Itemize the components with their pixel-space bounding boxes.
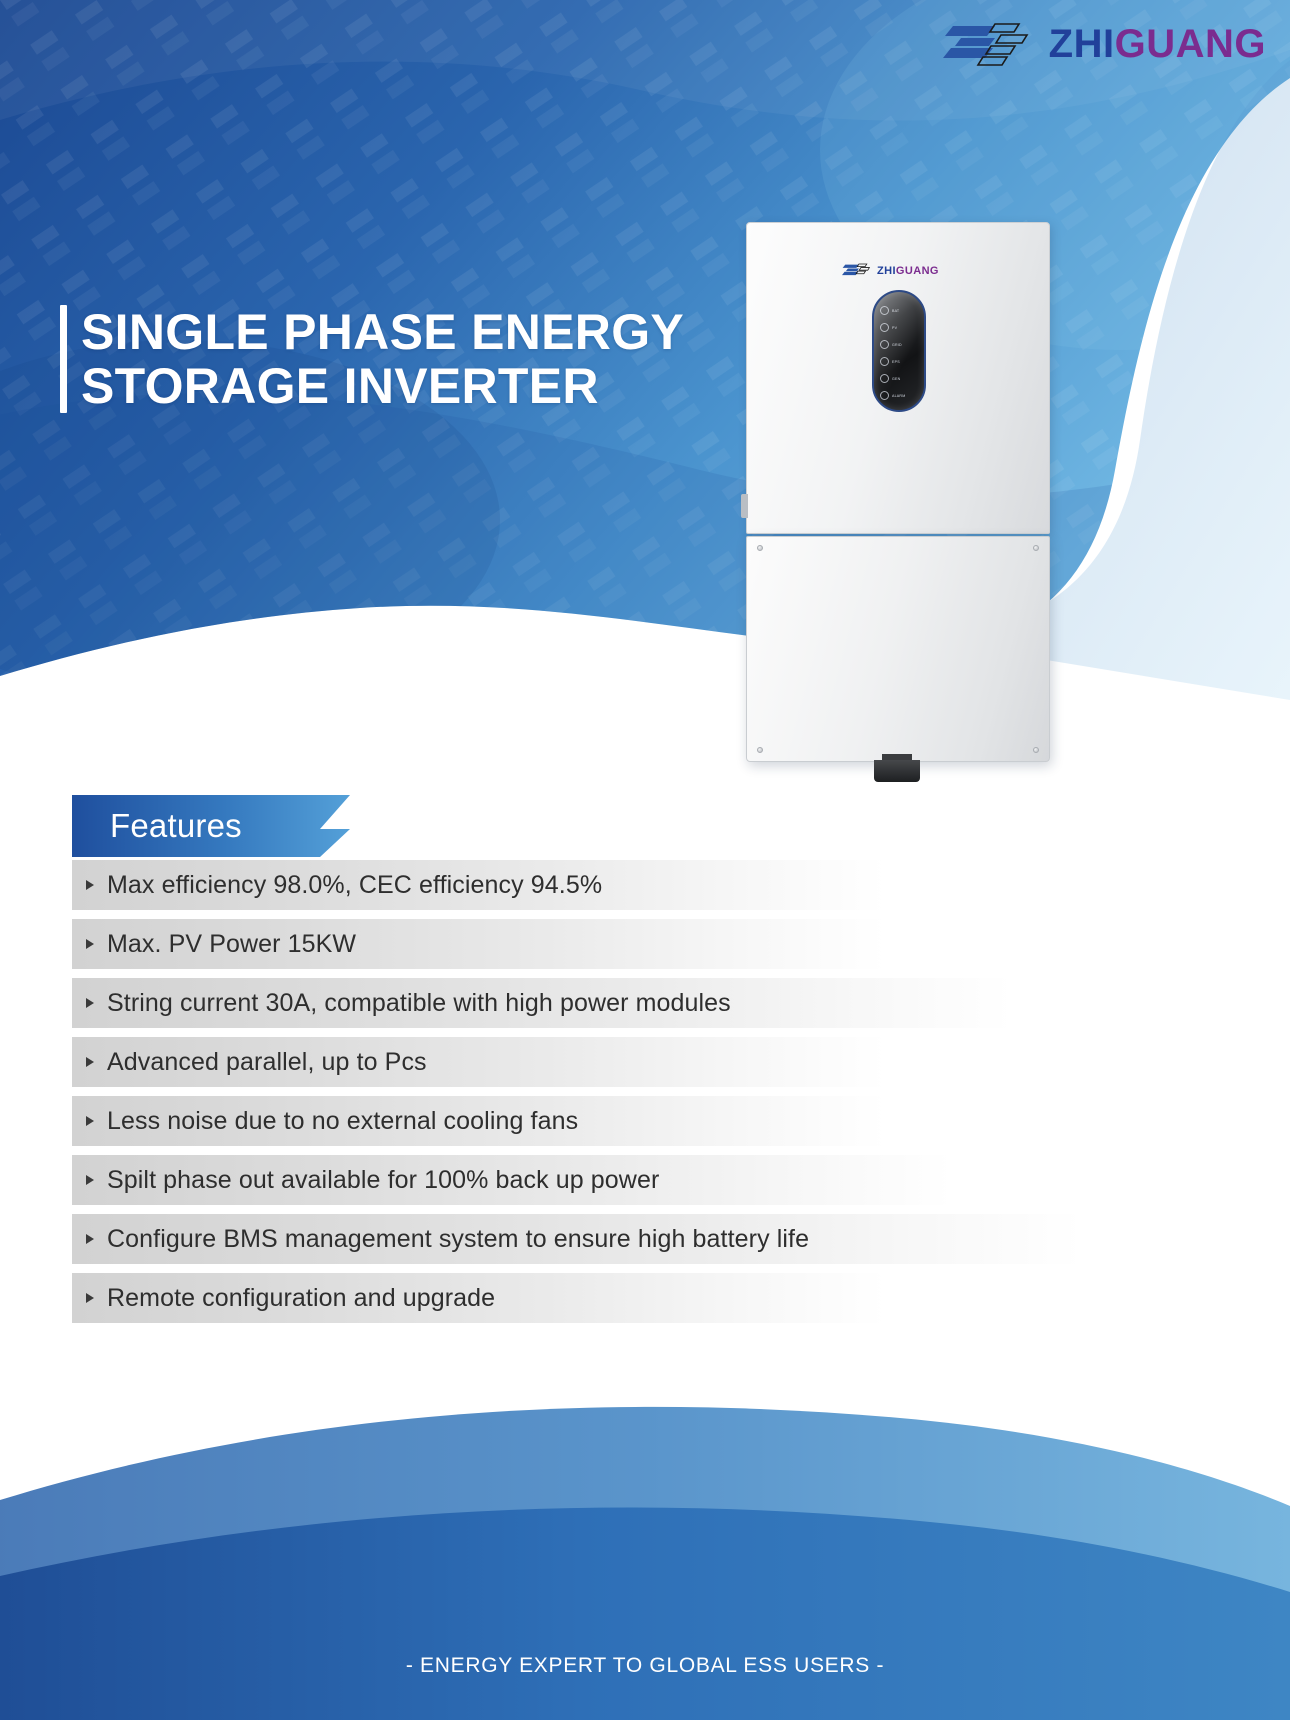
feature-item-8: Remote configuration and upgrade bbox=[72, 1273, 886, 1323]
product-image: ZHIGUANG BAT PV GRID EPS GEN ALARM bbox=[746, 222, 1050, 778]
features-heading-banner: Features bbox=[72, 795, 352, 857]
zhiguang-stripes-logo-icon bbox=[943, 18, 1035, 70]
feature-item-1: Max efficiency 98.0%, CEC efficiency 94.… bbox=[72, 860, 886, 910]
bullet-triangle-icon bbox=[86, 939, 94, 949]
title-text-group: SINGLE PHASE ENERGY STORAGE INVERTER bbox=[81, 305, 684, 413]
product-lower-enclosure bbox=[746, 536, 1050, 762]
status-indicator-grid: GRID bbox=[874, 336, 924, 353]
status-label-grid: GRID bbox=[892, 343, 902, 347]
feature-text: Max. PV Power 15KW bbox=[107, 930, 356, 959]
feature-item-2: Max. PV Power 15KW bbox=[72, 919, 886, 969]
generator-icon bbox=[880, 374, 889, 383]
battery-icon bbox=[880, 306, 889, 315]
feature-text: Max efficiency 98.0%, CEC efficiency 94.… bbox=[107, 871, 602, 900]
status-label-eps: EPS bbox=[892, 360, 900, 364]
feature-text: Remote configuration and upgrade bbox=[107, 1284, 495, 1313]
page-title: SINGLE PHASE ENERGY STORAGE INVERTER bbox=[60, 305, 684, 413]
product-status-display: BAT PV GRID EPS GEN ALARM bbox=[872, 290, 926, 412]
product-zhiguang-stripes-icon bbox=[842, 262, 872, 279]
status-indicator-alarm: ALARM bbox=[874, 387, 924, 404]
brand-logo-text: ZHIGUANG bbox=[1049, 24, 1266, 64]
feature-item-4: Advanced parallel, up to Pcs bbox=[72, 1037, 886, 1087]
feature-item-3: String current 30A, compatible with high… bbox=[72, 978, 1012, 1028]
feature-item-5: Less noise due to no external cooling fa… bbox=[72, 1096, 886, 1146]
feature-text: Configure BMS management system to ensur… bbox=[107, 1225, 809, 1254]
feature-text: Spilt phase out available for 100% back … bbox=[107, 1166, 659, 1195]
grid-icon bbox=[880, 340, 889, 349]
bullet-triangle-icon bbox=[86, 1234, 94, 1244]
title-line-2: STORAGE INVERTER bbox=[81, 359, 684, 413]
feature-item-6: Spilt phase out available for 100% back … bbox=[72, 1155, 952, 1205]
status-label-alarm: ALARM bbox=[892, 394, 905, 398]
screw-icon bbox=[757, 747, 763, 753]
screw-icon bbox=[757, 545, 763, 551]
title-line-1: SINGLE PHASE ENERGY bbox=[81, 305, 684, 359]
product-cable-gland bbox=[874, 760, 920, 782]
product-brand-part2: GUANG bbox=[896, 265, 939, 277]
pv-solar-icon bbox=[880, 323, 889, 332]
screw-icon bbox=[1033, 747, 1039, 753]
bullet-triangle-icon bbox=[86, 998, 94, 1008]
product-side-tab bbox=[741, 494, 748, 518]
bullet-triangle-icon bbox=[86, 1293, 94, 1303]
feature-item-7: Configure BMS management system to ensur… bbox=[72, 1214, 1082, 1264]
status-indicator-pv: PV bbox=[874, 319, 924, 336]
feature-text: Less noise due to no external cooling fa… bbox=[107, 1107, 578, 1136]
status-label-bat: BAT bbox=[892, 309, 899, 313]
status-label-pv: PV bbox=[892, 326, 897, 330]
feature-text: String current 30A, compatible with high… bbox=[107, 989, 731, 1018]
product-brand-text: ZHIGUANG bbox=[877, 265, 939, 277]
status-indicator-bat: BAT bbox=[874, 302, 924, 319]
footer-banner: - ENERGY EXPERT TO GLOBAL ESS USERS - bbox=[0, 1380, 1290, 1720]
bullet-triangle-icon bbox=[86, 1175, 94, 1185]
footer-tagline: - ENERGY EXPERT TO GLOBAL ESS USERS - bbox=[0, 1654, 1290, 1678]
title-accent-bar bbox=[60, 305, 67, 413]
brand-name-part1: ZHI bbox=[1049, 22, 1115, 66]
screw-icon bbox=[1033, 545, 1039, 551]
bullet-triangle-icon bbox=[86, 1057, 94, 1067]
eps-icon bbox=[880, 357, 889, 366]
feature-text: Advanced parallel, up to Pcs bbox=[107, 1048, 427, 1077]
brand-name-part2: GUANG bbox=[1115, 22, 1266, 66]
alarm-icon bbox=[880, 391, 889, 400]
brand-logo: ZHIGUANG bbox=[943, 18, 1266, 70]
status-label-gen: GEN bbox=[892, 377, 900, 381]
product-brand-logo: ZHIGUANG bbox=[842, 262, 939, 279]
bullet-triangle-icon bbox=[86, 880, 94, 890]
status-indicator-gen: GEN bbox=[874, 370, 924, 387]
features-heading-text: Features bbox=[110, 795, 242, 857]
bullet-triangle-icon bbox=[86, 1116, 94, 1126]
features-list: Max efficiency 98.0%, CEC efficiency 94.… bbox=[72, 860, 1192, 1332]
status-indicator-eps: EPS bbox=[874, 353, 924, 370]
product-brand-part1: ZHI bbox=[877, 265, 896, 277]
